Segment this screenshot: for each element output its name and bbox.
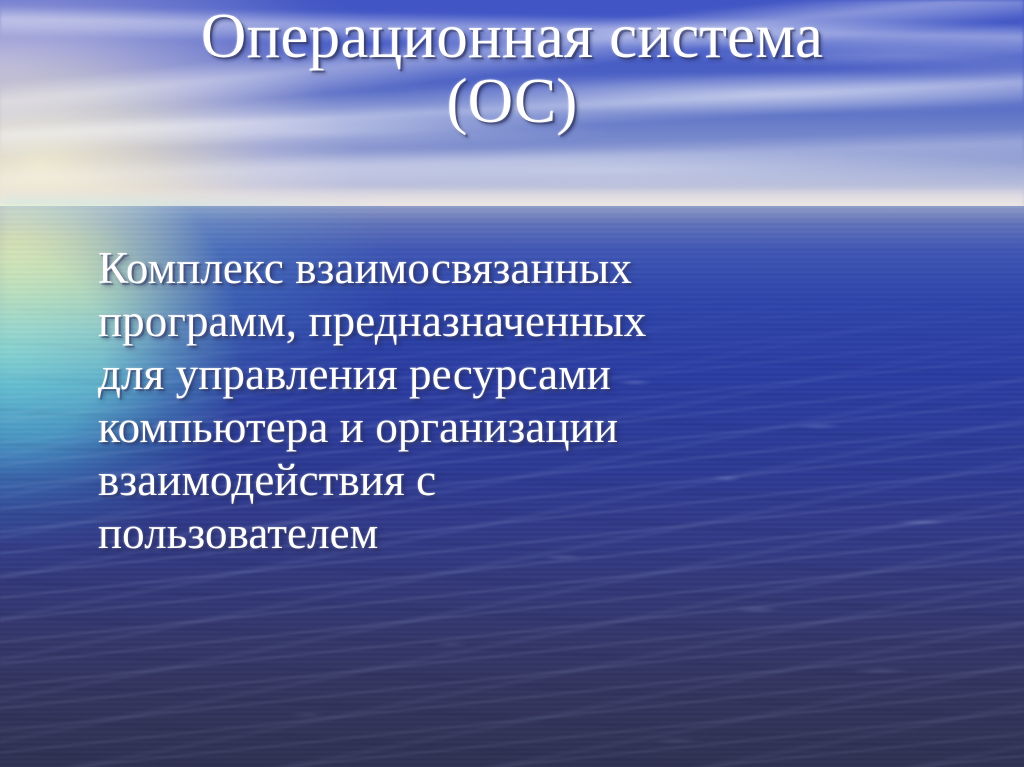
slide-title-line-2: (ОС) <box>446 66 577 136</box>
body-line: Комплекс взаимосвязанных <box>98 242 978 295</box>
body-line: компьютера и организации <box>98 401 978 454</box>
presentation-slide: Операционная система (ОС) Комплекс взаим… <box>0 0 1024 767</box>
body-line: взаимодействия с <box>98 454 978 507</box>
body-line: пользователем <box>98 507 978 560</box>
body-line: для управления ресурсами <box>98 348 978 401</box>
slide-body-text: Комплекс взаимосвязанных программ, предн… <box>98 242 978 560</box>
slide-title-line-1: Операционная система <box>201 1 823 71</box>
body-line: программ, предназначенных <box>98 295 978 348</box>
slide-title: Операционная система (ОС) <box>60 4 964 134</box>
slide-text-layer: Операционная система (ОС) Комплекс взаим… <box>0 0 1024 767</box>
